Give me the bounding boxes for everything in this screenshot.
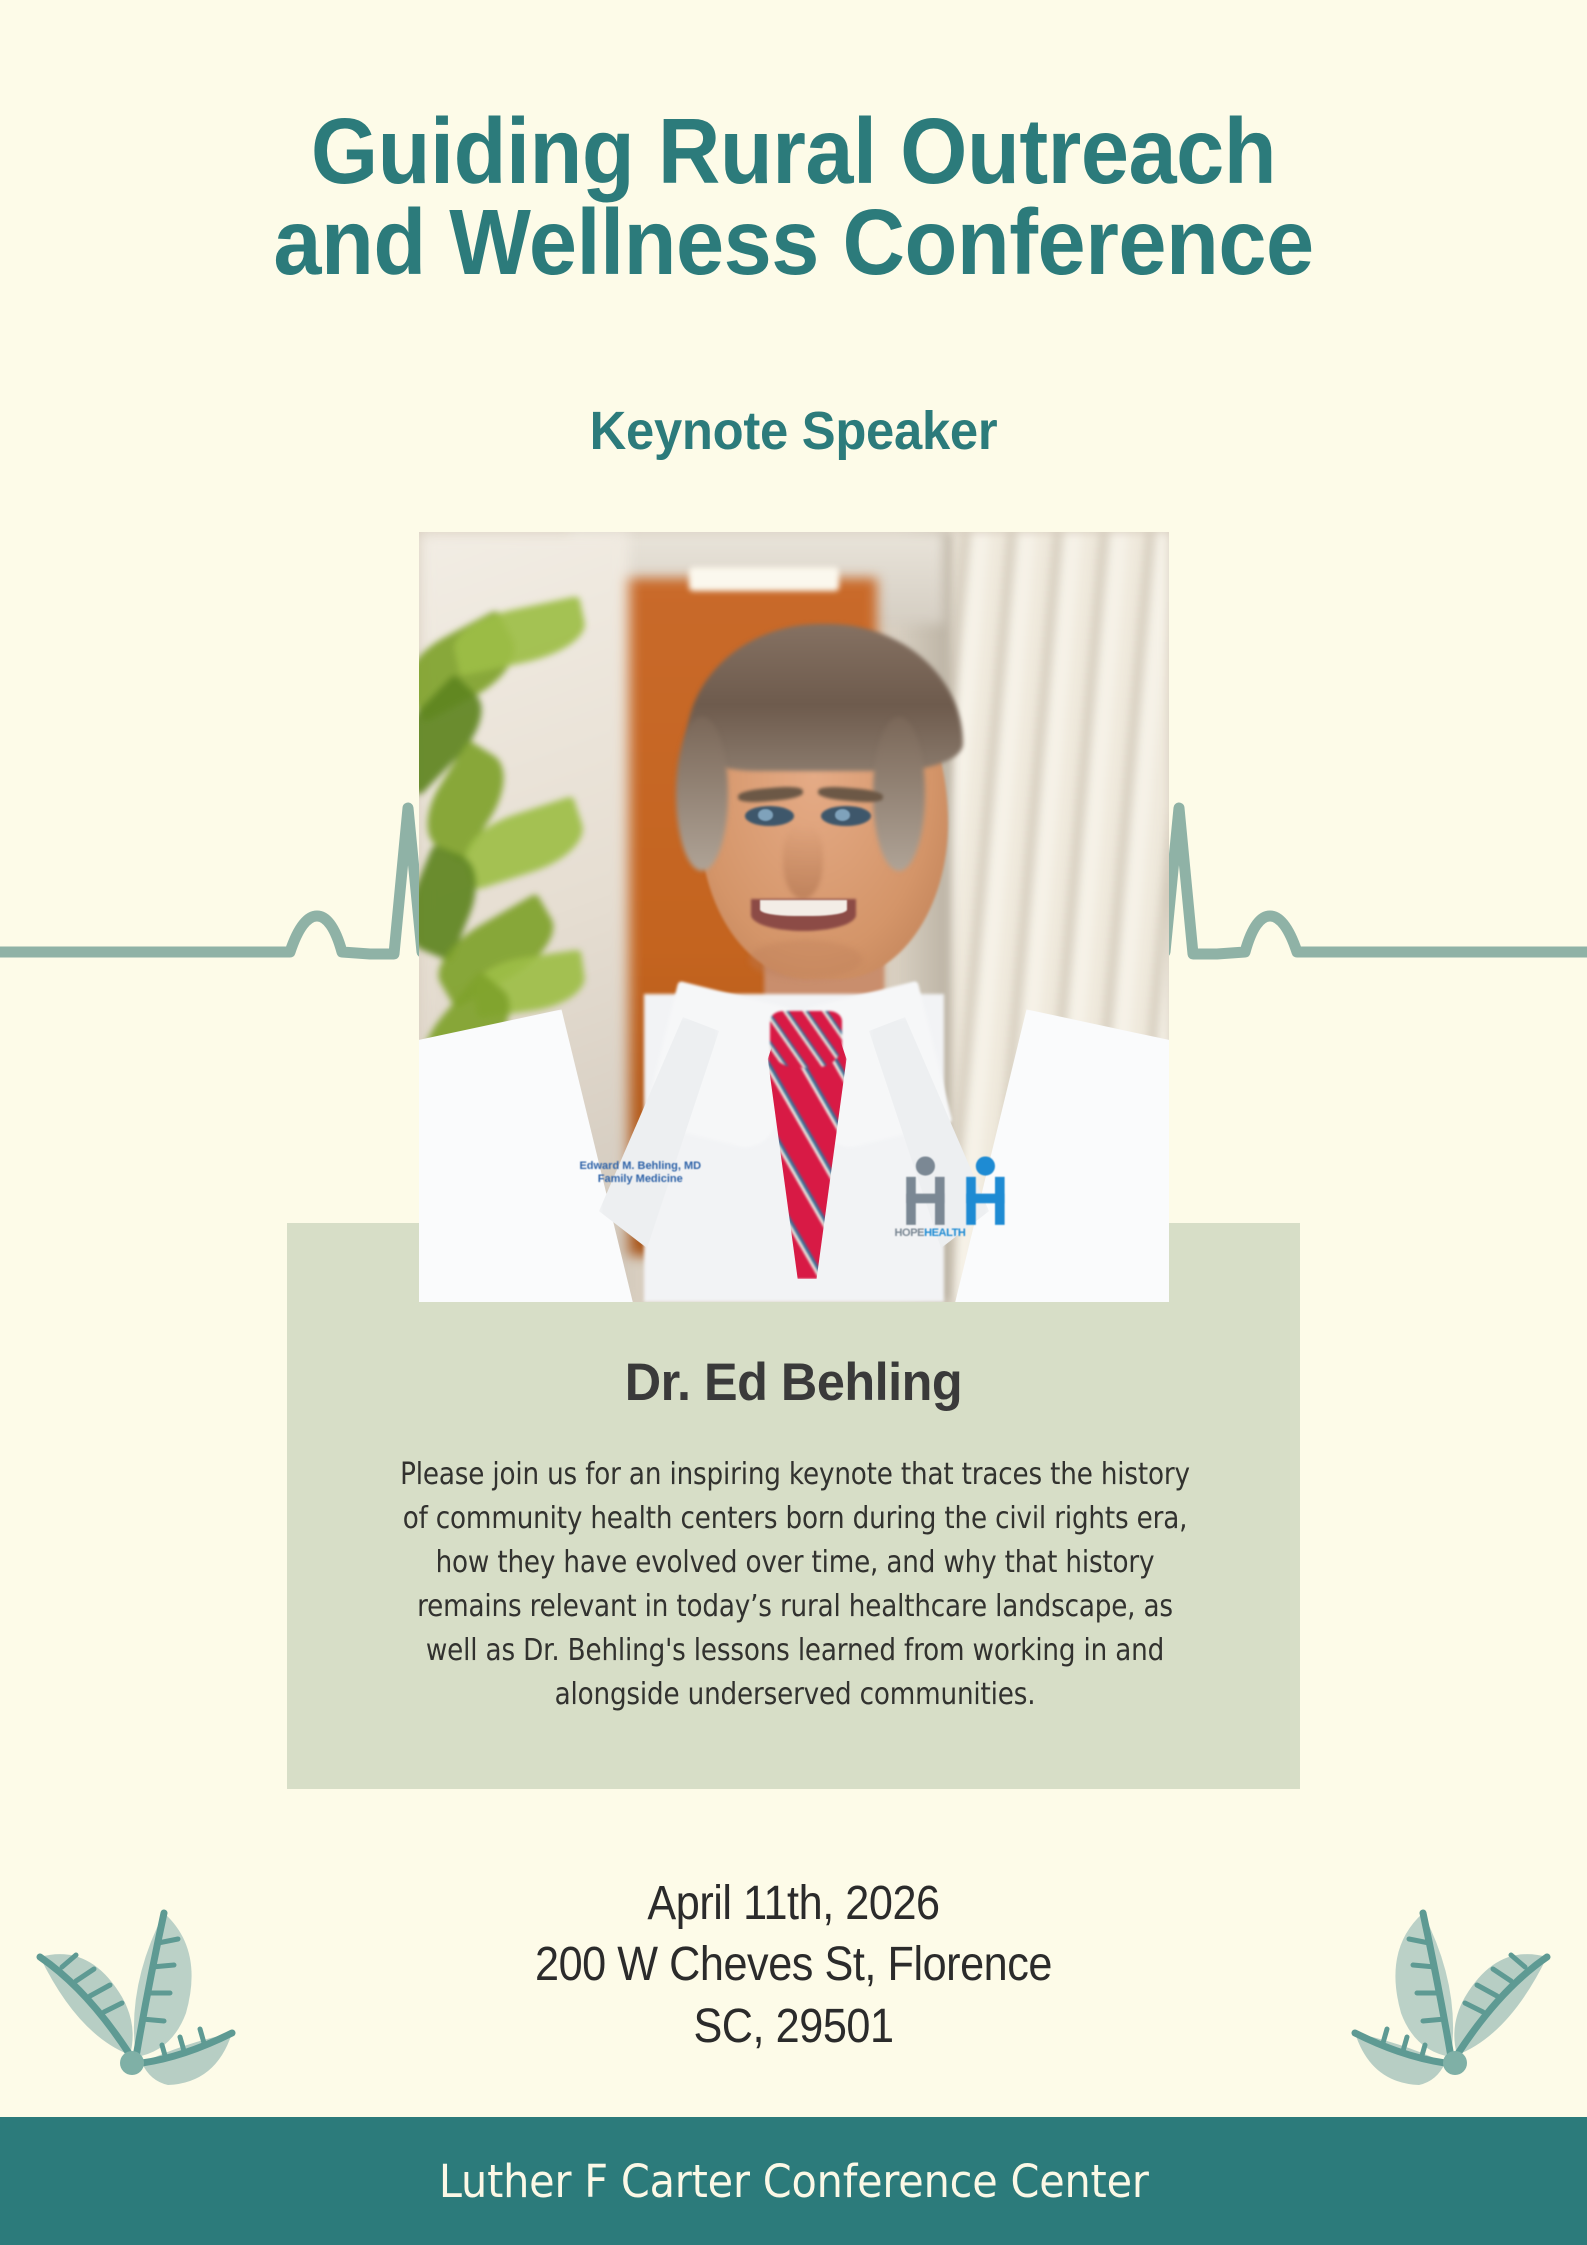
title-line-2: and Wellness Conference: [56, 197, 1532, 288]
coat-name-text: Edward M. Behling, MD: [550, 1160, 730, 1174]
event-date: April 11th, 2026: [79, 1873, 1507, 1934]
description-line: how they have evolved over time, and why…: [395, 1541, 1195, 1585]
conference-poster: Guiding Rural Outreach and Wellness Conf…: [0, 0, 1587, 2245]
speaker-description: Please join us for an inspiring keynote …: [395, 1453, 1195, 1716]
subtitle-keynote-speaker: Keynote Speaker: [48, 400, 1540, 462]
page-title: Guiding Rural Outreach and Wellness Conf…: [0, 106, 1587, 288]
footer-venue-name: Luther F Carter Conference Center: [439, 2155, 1149, 2208]
description-line: remains relevant in today’s rural health…: [395, 1585, 1195, 1629]
footer-bar: Luther F Carter Conference Center: [0, 2117, 1587, 2245]
event-details: April 11th, 2026 200 W Cheves St, Floren…: [79, 1873, 1507, 2057]
event-address-line-1: 200 W Cheves St, Florence: [79, 1934, 1507, 1995]
description-line: Please join us for an inspiring keynote …: [395, 1453, 1195, 1497]
leaf-sprig-left-icon: [18, 1895, 248, 2100]
speaker-photo: Edward M. Behling, MD Family Medicine HO…: [419, 532, 1169, 1302]
description-line: of community health centers born during …: [395, 1497, 1195, 1541]
description-line: alongside underserved communities.: [395, 1673, 1195, 1717]
leaf-sprig-right-icon: [1339, 1895, 1569, 2100]
lab-coat-embroidery: Edward M. Behling, MD Family Medicine: [550, 1160, 730, 1188]
logo-text-hope: HOPE: [895, 1227, 925, 1239]
title-line-1: Guiding Rural Outreach: [311, 99, 1276, 203]
logo-text-health: HEALTH: [924, 1227, 965, 1239]
coat-dept-text: Family Medicine: [550, 1173, 730, 1187]
event-address-line-2: SC, 29501: [79, 1996, 1507, 2057]
hopehealth-logo-icon: [899, 1140, 1019, 1240]
speaker-name: Dr. Ed Behling: [312, 1352, 1274, 1413]
description-line: well as Dr. Behling's lessons learned fr…: [395, 1629, 1195, 1673]
